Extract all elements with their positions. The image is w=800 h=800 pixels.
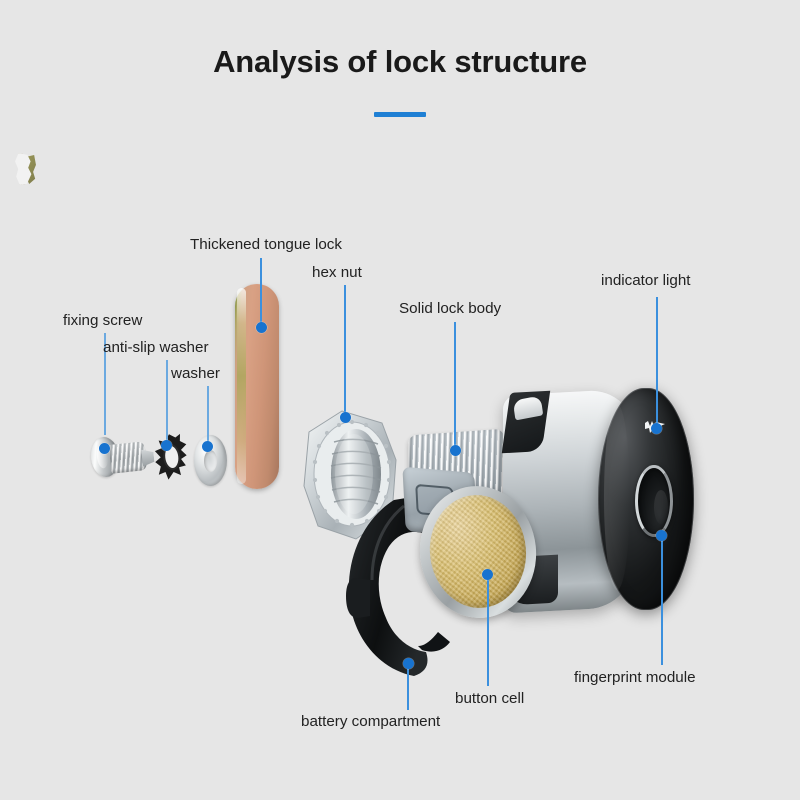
leader-line-indicator-light [656,297,658,427]
leader-dot-anti-slip-washer [161,440,172,451]
leader-dot-washer [202,441,213,452]
diagram-canvas: Analysis of lock structure [0,0,800,800]
callout-label-indicator-light: indicator light [601,273,691,288]
leader-line-hex-nut [344,285,346,417]
leader-dot-indicator-light [651,423,662,434]
leader-dot-solid-lock-body [450,445,461,456]
tongue-edge-highlight [237,288,246,484]
callout-label-fingerprint-module: fingerprint module [574,670,696,685]
leader-dot-hex-nut [340,412,351,423]
leader-dot-fingerprint-module [656,530,667,541]
button-cell-face [424,490,531,612]
face-gloss [604,404,630,590]
part-fixing-screw-tip [141,448,155,466]
part-anti-slip-washer [152,431,193,487]
part-fixing-screw-shaft [109,441,148,474]
leader-line-button-cell [487,576,489,686]
callout-label-thickened-tongue-lock: Thickened tongue lock [190,237,342,252]
callout-label-washer: washer [171,366,220,381]
leader-line-battery-compartment [407,666,409,710]
callout-label-solid-lock-body: Solid lock body [399,301,501,316]
callout-label-fixing-screw: fixing screw [63,313,142,328]
leader-line-thickened-tongue-lock [260,258,262,328]
callout-label-hex-nut: hex nut [312,265,362,280]
leader-line-anti-slip-washer [166,360,168,445]
leader-dot-button-cell [482,569,493,580]
leader-line-fingerprint-module [661,537,663,665]
leader-dot-battery-compartment [403,658,414,669]
callout-label-button-cell: button cell [455,691,524,706]
part-thickened-tongue-lock [235,284,279,489]
callout-label-anti-slip-washer: anti-slip washer [103,340,209,355]
leader-line-solid-lock-body [454,322,456,450]
leader-dot-thickened-tongue-lock [256,322,267,333]
leader-dot-fixing-screw [99,443,110,454]
leader-line-washer [207,386,209,446]
fingerprint-sensor-oval [635,465,673,537]
callout-label-battery-compartment: battery compartment [301,714,440,729]
